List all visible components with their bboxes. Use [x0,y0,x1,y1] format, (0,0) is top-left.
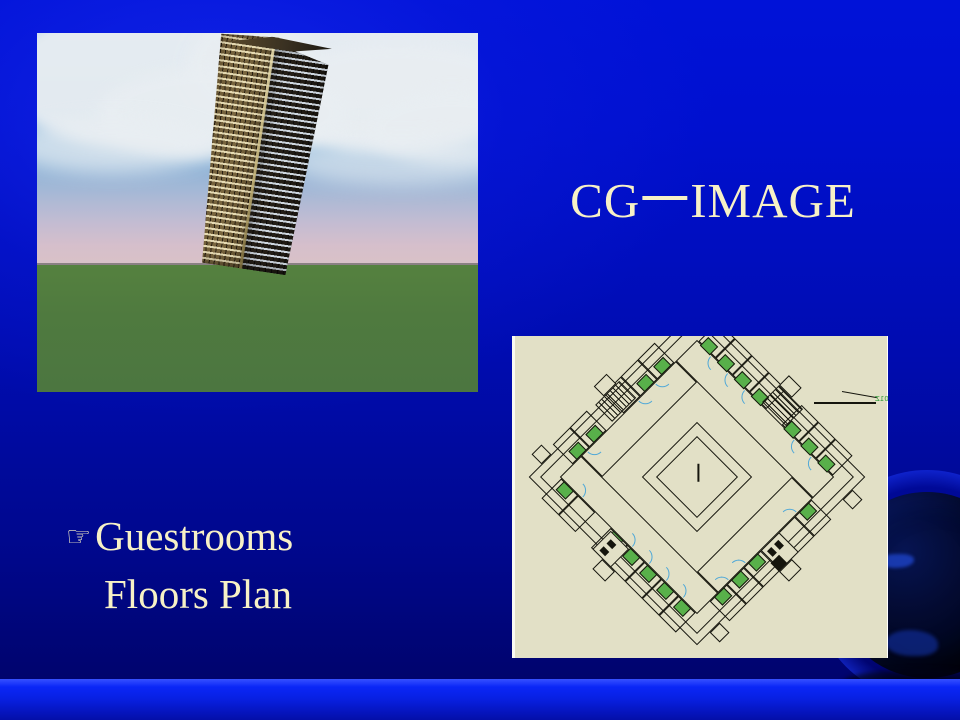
elevator-car [599,546,609,556]
bullet-line-1: Guestrooms [95,508,293,564]
slide-bottom-accent-highlight [0,679,960,687]
elevator-car [774,540,784,550]
plan-annotation-leader: 01Z [814,386,888,410]
floor-plan-image: 01Z [512,336,888,658]
globe-landmass-lower [886,630,938,656]
floor-plan-left-border [512,336,515,658]
cg-cloud [37,117,217,173]
presentation-slide: CG一IMAGE ☞ Guestrooms Floors Plan [0,0,960,720]
cg-ground-plane [37,265,478,392]
cg-render-image [37,33,478,392]
list-item: ☞ Guestrooms [66,508,486,566]
page-title: CG一IMAGE [513,173,913,229]
bullet-list: ☞ Guestrooms Floors Plan [66,508,486,622]
pointing-hand-bullet-icon: ☞ [66,508,91,566]
floor-plan-drawing [520,336,874,654]
leader-line [814,402,876,404]
bullet-line-2: Floors Plan [104,566,486,622]
core-detail-mark [697,464,699,482]
leader-tick [842,391,878,398]
elevator-car [606,539,616,549]
plan-annotation-label: 01Z [875,395,888,404]
elevator-car [767,547,777,557]
